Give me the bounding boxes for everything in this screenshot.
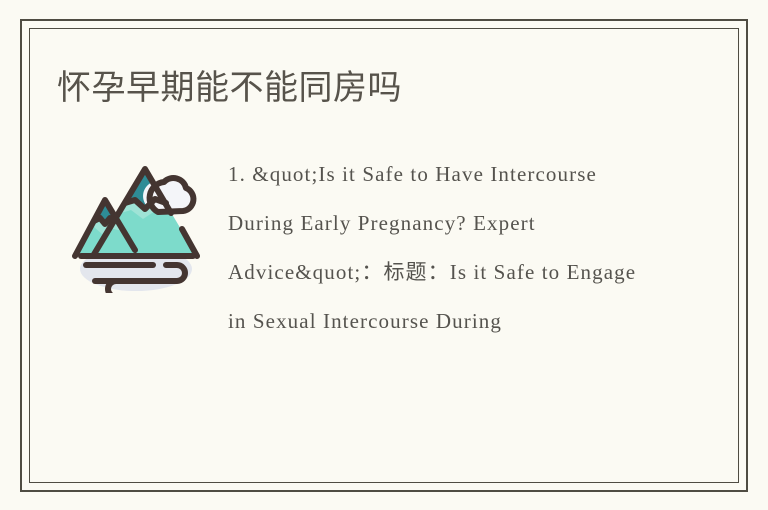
article-body-text: 1. &quot;Is it Safe to Have Intercourse … (228, 150, 640, 346)
content-row: 1. &quot;Is it Safe to Have Intercourse … (57, 150, 657, 400)
mountain-landscape-icon (69, 153, 203, 293)
page-title: 怀孕早期能不能同房吗 (57, 66, 402, 110)
article-card: 怀孕早期能不能同房吗 (0, 0, 768, 510)
